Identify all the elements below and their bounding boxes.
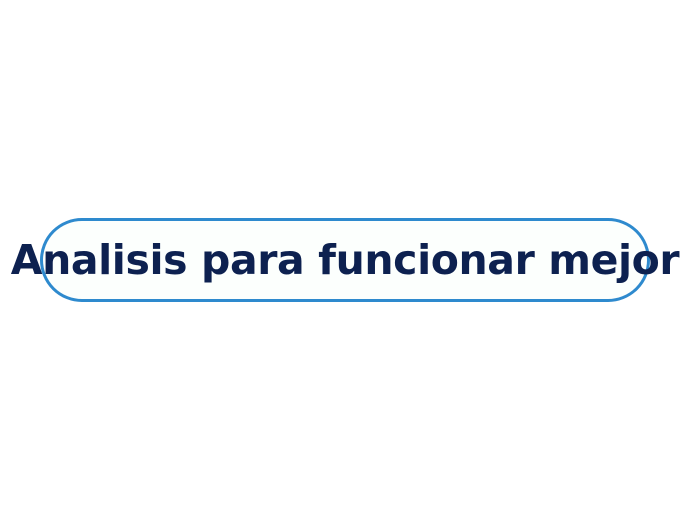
diagram-canvas: Analisis para funcionar mejor — [0, 0, 696, 520]
diagram-node-pill[interactable]: Analisis para funcionar mejor — [40, 218, 650, 302]
diagram-node-label: Analisis para funcionar mejor — [11, 240, 679, 281]
